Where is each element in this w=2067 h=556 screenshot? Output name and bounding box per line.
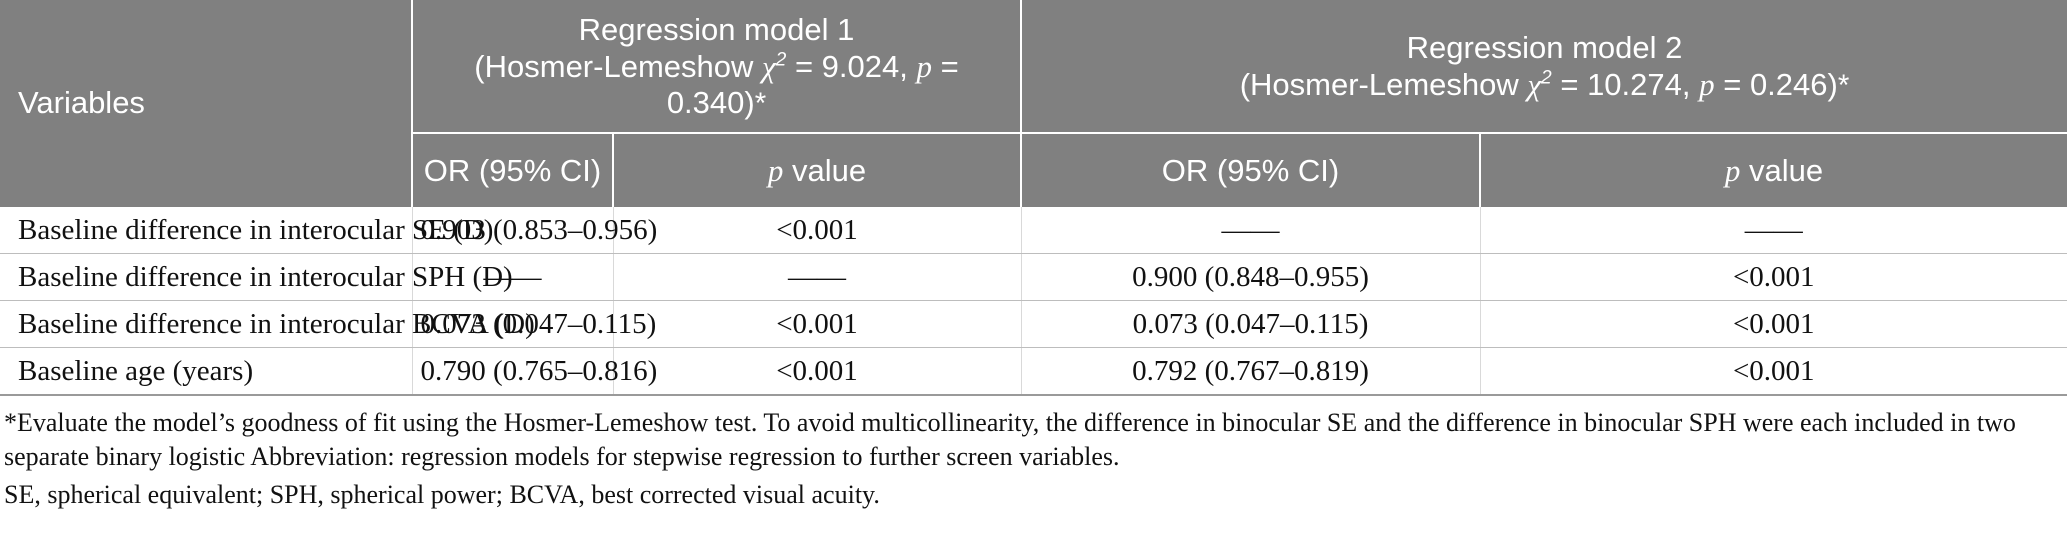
cell-model1-p: <0.001 (613, 348, 1021, 395)
header-regression-model-1: Regression model 1 (Hosmer-Lemeshow χ2 =… (412, 0, 1021, 133)
model1-footnote-star: * (755, 87, 766, 120)
cell-model2-p: <0.001 (1480, 254, 2067, 301)
table-row: Baseline age (years) 0.790 (0.765–0.816)… (0, 348, 2067, 395)
table-row: Baseline difference in interocular SPH (… (0, 254, 2067, 301)
header-regression-model-2: Regression model 2 (Hosmer-Lemeshow χ2 =… (1021, 0, 2067, 133)
cell-model2-or: 0.792 (0.767–0.819) (1021, 348, 1480, 395)
chi-symbol-model2: χ (1527, 67, 1541, 102)
p-value-word-2: value (1740, 153, 1823, 188)
row-variable-label: Baseline difference in interocular BCVA … (0, 301, 412, 348)
chi-exponent-model2: 2 (1541, 68, 1552, 89)
model1-statline: (Hosmer-Lemeshow χ2 = 9.024, p = 0.340)* (474, 49, 958, 121)
table-row: Baseline difference in interocular BCVA … (0, 301, 2067, 348)
model2-title: Regression model 2 (1407, 30, 1683, 65)
row-variable-label: Baseline difference in interocular SE (D… (0, 207, 412, 254)
table-body: Baseline difference in interocular SE (D… (0, 207, 2067, 395)
table-row: Baseline difference in interocular SE (D… (0, 207, 2067, 254)
model1-stat-prefix: (Hosmer-Lemeshow (474, 49, 762, 84)
cell-model1-or: 0.073 (0.047–0.115) (412, 301, 613, 348)
model2-p-value: = 0.246) (1715, 67, 1838, 102)
regression-results-table-container: Variables Regression model 1 (Hosmer-Lem… (0, 0, 2067, 511)
cell-model2-or: —— (1021, 207, 1480, 254)
cell-model1-or: 0.790 (0.765–0.816) (412, 348, 613, 395)
header-model2-or: OR (95% CI) (1021, 133, 1480, 207)
table-footnotes: *Evaluate the model’s goodness of fit us… (0, 396, 2067, 511)
p-italic-2: p (1725, 153, 1741, 188)
model2-stat-prefix: (Hosmer-Lemeshow (1240, 67, 1528, 102)
cell-model1-or: 0.903 (0.853–0.956) (412, 207, 613, 254)
footnote-line-2: SE, spherical equivalent; SPH, spherical… (4, 478, 2063, 512)
cell-model1-p: <0.001 (613, 301, 1021, 348)
header-model1-or: OR (95% CI) (412, 133, 613, 207)
row-variable-label: Baseline difference in interocular SPH (… (0, 254, 412, 301)
cell-model2-p: —— (1480, 207, 2067, 254)
cell-model1-p: —— (613, 254, 1021, 301)
p-symbol-model2: p (1699, 67, 1715, 102)
header-model1-pvalue: p value (613, 133, 1021, 207)
footnote-line-1: *Evaluate the model’s goodness of fit us… (4, 406, 2063, 474)
cell-model2-p: <0.001 (1480, 301, 2067, 348)
model2-statline: (Hosmer-Lemeshow χ2 = 10.274, p = 0.246)… (1240, 67, 1850, 102)
row-variable-label: Baseline age (years) (0, 348, 412, 395)
header-model2-pvalue: p value (1480, 133, 2067, 207)
regression-results-table: Variables Regression model 1 (Hosmer-Lem… (0, 0, 2067, 396)
model2-footnote-star: * (1838, 69, 1849, 102)
header-row-models: Variables Regression model 1 (Hosmer-Lem… (0, 0, 2067, 133)
p-italic-1: p (768, 153, 784, 188)
table-header: Variables Regression model 1 (Hosmer-Lem… (0, 0, 2067, 207)
model1-chi-value: = 9.024, (786, 49, 916, 84)
model2-chi-value: = 10.274, (1552, 67, 1699, 102)
header-variables: Variables (0, 0, 412, 207)
model1-title: Regression model 1 (579, 12, 855, 47)
chi-exponent-model1: 2 (776, 49, 787, 70)
chi-symbol-model1: χ (762, 49, 776, 84)
cell-model2-or: 0.900 (0.848–0.955) (1021, 254, 1480, 301)
cell-model2-p: <0.001 (1480, 348, 2067, 395)
cell-model2-or: 0.073 (0.047–0.115) (1021, 301, 1480, 348)
cell-model1-p: <0.001 (613, 207, 1021, 254)
p-symbol-model1: p (916, 49, 932, 84)
p-value-word-1: value (783, 153, 866, 188)
